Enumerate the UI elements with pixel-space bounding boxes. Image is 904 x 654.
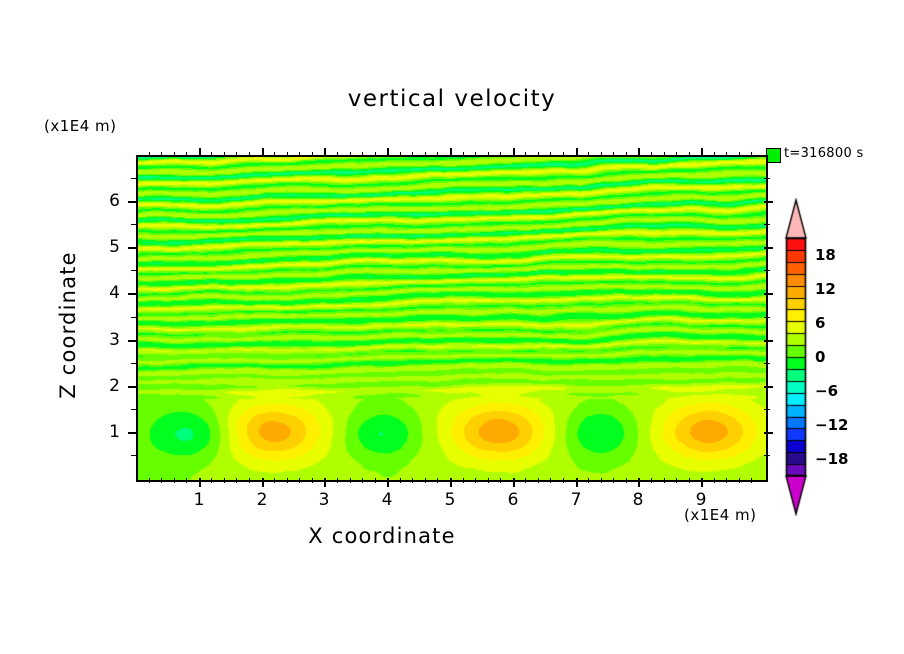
y-major-tick: [128, 247, 137, 249]
x-tick-label: 7: [556, 490, 596, 510]
x-minor-tick-top: [714, 152, 715, 157]
x-minor-tick: [664, 478, 665, 483]
x-minor-tick: [488, 478, 489, 483]
x-minor-tick-top: [563, 152, 564, 157]
x-minor-tick: [739, 478, 740, 483]
x-minor-tick: [299, 478, 300, 483]
x-minor-tick-top: [149, 152, 150, 157]
x-minor-tick-top: [651, 152, 652, 157]
x-tick-label: 8: [618, 490, 658, 510]
x-minor-tick-top: [739, 152, 740, 157]
x-minor-tick-top: [664, 152, 665, 157]
x-tick-label: 3: [304, 490, 344, 510]
x-minor-tick-top: [488, 152, 489, 157]
x-minor-tick: [274, 478, 275, 483]
x-minor-tick: [350, 478, 351, 483]
y-minor-tick: [131, 270, 137, 271]
x-minor-tick-top: [174, 152, 175, 157]
y-major-tick: [128, 201, 137, 203]
x-minor-tick: [337, 478, 338, 483]
x-minor-tick: [726, 478, 727, 483]
x-minor-tick: [236, 478, 237, 483]
x-major-tick: [387, 478, 389, 487]
x-minor-tick-top: [337, 152, 338, 157]
x-minor-tick-top: [186, 152, 187, 157]
y-major-tick-right: [764, 293, 773, 295]
x-minor-tick: [463, 478, 464, 483]
x-major-tick: [576, 478, 578, 487]
x-minor-tick: [676, 478, 677, 483]
y-minor-tick: [131, 178, 137, 179]
x-minor-tick: [563, 478, 564, 483]
y-minor-tick: [131, 363, 137, 364]
x-major-tick-top: [387, 148, 389, 157]
x-minor-tick-top: [601, 152, 602, 157]
x-minor-tick: [525, 478, 526, 483]
y-minor-tick-right: [764, 317, 770, 318]
x-major-tick-top: [324, 148, 326, 157]
x-minor-tick-top: [676, 152, 677, 157]
x-axis-unit-label: (x1E4 m): [684, 506, 757, 524]
y-minor-tick: [131, 409, 137, 410]
x-major-tick: [199, 478, 201, 487]
y-axis-title: Z coordinate: [56, 215, 80, 435]
x-minor-tick-top: [236, 152, 237, 157]
x-major-tick-top: [638, 148, 640, 157]
x-minor-tick-top: [538, 152, 539, 157]
y-minor-tick: [131, 317, 137, 318]
y-minor-tick-right: [764, 270, 770, 271]
x-tick-label: 2: [242, 490, 282, 510]
x-major-tick: [513, 478, 515, 487]
x-minor-tick: [550, 478, 551, 483]
x-minor-tick-top: [362, 152, 363, 157]
colorbar-tick-label: −12: [815, 416, 848, 434]
timestamp-swatch: [766, 148, 781, 163]
x-major-tick: [262, 478, 264, 487]
x-minor-tick-top: [437, 152, 438, 157]
x-axis-title: X coordinate: [0, 524, 764, 548]
x-minor-tick: [425, 478, 426, 483]
y-major-tick: [128, 386, 137, 388]
x-minor-tick-top: [525, 152, 526, 157]
x-major-tick: [638, 478, 640, 487]
x-minor-tick-top: [161, 152, 162, 157]
x-minor-tick: [375, 478, 376, 483]
x-minor-tick: [500, 478, 501, 483]
y-tick-label: 1: [80, 422, 120, 442]
colorbar: [783, 198, 809, 516]
x-minor-tick: [601, 478, 602, 483]
x-minor-tick: [538, 478, 539, 483]
colorbar-tick-label: −18: [815, 450, 848, 468]
y-tick-label: 2: [80, 376, 120, 396]
x-major-tick: [450, 478, 452, 487]
y-major-tick-right: [764, 386, 773, 388]
y-major-tick: [128, 432, 137, 434]
x-minor-tick: [211, 478, 212, 483]
colorbar-tick-label: 18: [815, 246, 836, 264]
x-minor-tick: [751, 478, 752, 483]
x-major-tick-top: [450, 148, 452, 157]
x-minor-tick: [249, 478, 250, 483]
x-tick-label: 5: [430, 490, 470, 510]
y-major-tick: [128, 340, 137, 342]
x-minor-tick-top: [375, 152, 376, 157]
x-minor-tick-top: [249, 152, 250, 157]
x-major-tick-top: [199, 148, 201, 157]
x-tick-label: 6: [493, 490, 533, 510]
y-minor-tick-right: [764, 363, 770, 364]
colorbar-tick-label: −6: [815, 382, 838, 400]
x-minor-tick: [312, 478, 313, 483]
x-major-tick: [701, 478, 703, 487]
x-tick-label: 4: [367, 490, 407, 510]
x-major-tick-top: [262, 148, 264, 157]
y-major-tick-right: [764, 340, 773, 342]
x-minor-tick: [588, 478, 589, 483]
page-title: vertical velocity: [0, 86, 904, 112]
x-major-tick-top: [513, 148, 515, 157]
x-minor-tick: [149, 478, 150, 483]
x-major-tick: [324, 478, 326, 487]
x-tick-label: 1: [179, 490, 219, 510]
contour-field: [138, 157, 766, 480]
plot-area: [136, 155, 768, 482]
y-major-tick: [128, 293, 137, 295]
y-tick-label: 5: [80, 237, 120, 257]
y-major-tick-right: [764, 201, 773, 203]
x-major-tick-top: [576, 148, 578, 157]
x-minor-tick: [174, 478, 175, 483]
x-minor-tick-top: [211, 152, 212, 157]
x-minor-tick: [412, 478, 413, 483]
x-minor-tick-top: [500, 152, 501, 157]
x-minor-tick: [186, 478, 187, 483]
x-minor-tick-top: [274, 152, 275, 157]
y-minor-tick: [131, 224, 137, 225]
colorbar-tick-label: 12: [815, 280, 836, 298]
x-minor-tick-top: [350, 152, 351, 157]
x-minor-tick: [224, 478, 225, 483]
x-minor-tick-top: [287, 152, 288, 157]
colorbar-tick-label: 6: [815, 314, 825, 332]
x-minor-tick: [362, 478, 363, 483]
y-minor-tick-right: [764, 224, 770, 225]
x-minor-tick-top: [412, 152, 413, 157]
x-minor-tick-top: [588, 152, 589, 157]
x-minor-tick-top: [626, 152, 627, 157]
y-minor-tick: [131, 455, 137, 456]
x-minor-tick: [475, 478, 476, 483]
y-tick-label: 6: [80, 191, 120, 211]
x-minor-tick: [626, 478, 627, 483]
x-minor-tick-top: [400, 152, 401, 157]
x-minor-tick: [161, 478, 162, 483]
x-minor-tick: [714, 478, 715, 483]
x-minor-tick-top: [550, 152, 551, 157]
y-minor-tick-right: [764, 178, 770, 179]
x-minor-tick-top: [425, 152, 426, 157]
colorbar-gradient: [783, 198, 809, 516]
x-minor-tick-top: [463, 152, 464, 157]
x-minor-tick: [651, 478, 652, 483]
x-minor-tick-top: [312, 152, 313, 157]
x-minor-tick-top: [299, 152, 300, 157]
y-minor-tick-right: [764, 455, 770, 456]
x-minor-tick: [437, 478, 438, 483]
x-minor-tick-top: [475, 152, 476, 157]
y-minor-tick-right: [764, 409, 770, 410]
x-minor-tick: [613, 478, 614, 483]
x-minor-tick-top: [224, 152, 225, 157]
x-minor-tick-top: [726, 152, 727, 157]
x-minor-tick-top: [689, 152, 690, 157]
y-axis-unit-label: (x1E4 m): [44, 117, 117, 135]
timestamp-annotation: t=316800 s: [784, 146, 864, 161]
x-minor-tick: [287, 478, 288, 483]
x-major-tick-top: [701, 148, 703, 157]
x-minor-tick: [400, 478, 401, 483]
x-minor-tick: [689, 478, 690, 483]
y-tick-label: 3: [80, 330, 120, 350]
x-minor-tick-top: [613, 152, 614, 157]
y-tick-label: 4: [80, 283, 120, 303]
colorbar-tick-label: 0: [815, 348, 825, 366]
figure-canvas: vertical velocity (x1E4 m) t=316800 s 12…: [0, 0, 904, 654]
y-major-tick-right: [764, 247, 773, 249]
y-major-tick-right: [764, 432, 773, 434]
x-minor-tick-top: [751, 152, 752, 157]
